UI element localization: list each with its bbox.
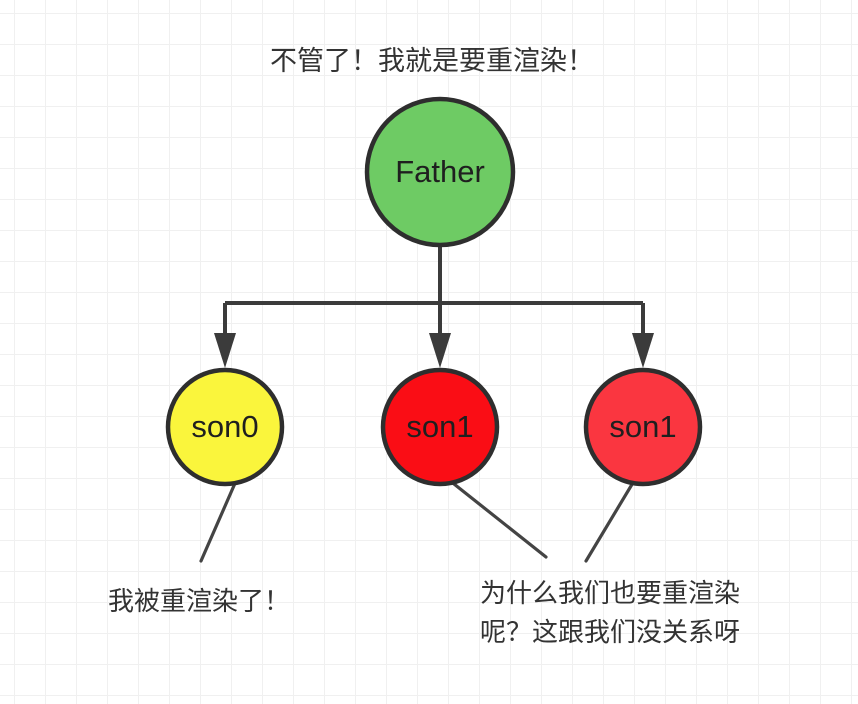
tree-arrowheads	[214, 333, 654, 368]
node-son1-middle[interactable]: son1	[383, 370, 497, 484]
diagram-svg: Father son0 son1 son1 不管了！我就是要重渲染！ 我被重渲染…	[0, 0, 858, 704]
diagram-canvas: Father son0 son1 son1 不管了！我就是要重渲染！ 我被重渲染…	[0, 0, 858, 704]
annotation-left-line1: 我被重渲染了！	[108, 587, 290, 617]
leader-line-son1-right	[586, 481, 634, 561]
annotation-leader-lines	[201, 480, 634, 561]
node-son1-middle-label: son1	[406, 409, 473, 444]
node-father[interactable]: Father	[367, 99, 513, 245]
tree-connectors	[225, 245, 643, 333]
node-son1-right[interactable]: son1	[586, 370, 700, 484]
node-father-label: Father	[395, 154, 485, 189]
leader-line-son0	[201, 481, 236, 561]
node-son0-label: son0	[191, 409, 258, 444]
annotation-right-line1: 为什么我们也要重渲染	[480, 579, 740, 609]
node-son0[interactable]: son0	[168, 370, 282, 484]
arrow-head-son1-middle	[429, 333, 451, 368]
arrow-head-son0	[214, 333, 236, 368]
annotation-right-line2: 呢？这跟我们没关系呀	[480, 618, 740, 648]
diagram-title: 不管了！我就是要重渲染！	[270, 46, 594, 77]
node-son1-right-label: son1	[609, 409, 676, 444]
arrow-head-son1-right	[632, 333, 654, 368]
leader-line-son1-middle	[449, 480, 546, 557]
